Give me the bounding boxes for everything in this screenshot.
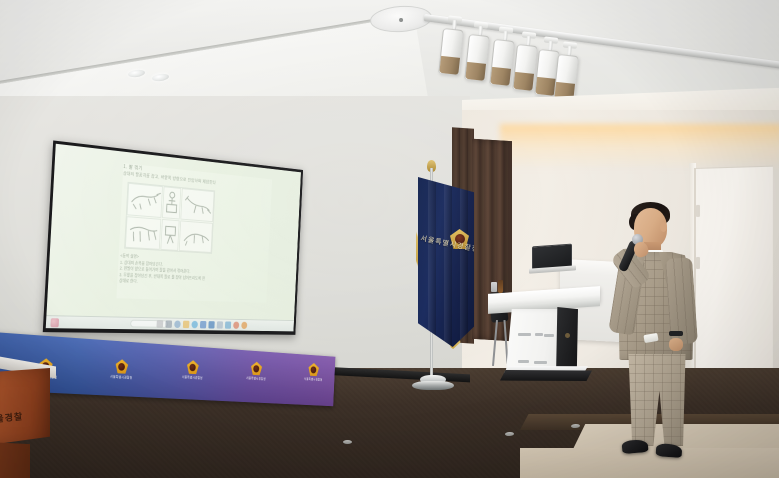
cove-light-glow [500, 124, 779, 170]
flag-stand-base [412, 381, 454, 390]
banner-emblem-label: 서울특별시경찰청 [110, 374, 132, 380]
banner-emblem-label: 서울특별시경찰청 [246, 375, 266, 381]
banner-emblem-label: 서울특별시경찰청 [182, 374, 203, 380]
drinking-glass [491, 282, 497, 292]
lectern-vent [535, 333, 543, 336]
presenter-trousers [626, 354, 688, 446]
screen-frame: 1. 팔 꺾기 상대의 팔꿈치를 잡고, 바깥쪽 방향으로 진압하여 제압한다 [43, 140, 303, 334]
taskbar-icon[interactable] [183, 321, 190, 328]
presentation-room-photo: 1. 팔 꺾기 상대의 팔꿈치를 잡고, 바깥쪽 방향으로 진압하여 제압한다 [0, 0, 779, 478]
lectern-vent [544, 334, 554, 337]
presenter-shoe [621, 439, 648, 454]
technique-step-1 [127, 183, 163, 218]
lectern-body: 서울경찰 [0, 368, 50, 446]
technique-step-2 [162, 186, 181, 219]
floor-marker-icon [343, 440, 352, 444]
taskbar-icon[interactable] [156, 320, 163, 328]
taskbar-icon[interactable] [241, 322, 247, 329]
technique-step-3 [181, 188, 215, 221]
police-ceremonial-flag: 서울특별시경찰청 [418, 177, 474, 347]
wooden-lectern: 서울경찰 [0, 360, 56, 478]
technique-step-6 [179, 220, 213, 253]
banner-emblem-label: 서울특별시경찰청 [304, 376, 323, 381]
police-emblem-icon [251, 361, 263, 375]
projected-slide: 1. 팔 꺾기 상대의 팔꿈치를 잡고, 바깥쪽 방향으로 진압하여 제압한다 [46, 144, 300, 320]
police-emblem-icon [187, 360, 199, 374]
taskbar-icon[interactable] [165, 320, 172, 328]
open-laptop[interactable] [529, 245, 575, 275]
slide-content-area: 1. 팔 꺾기 상대의 팔꿈치를 잡고, 바깥쪽 방향으로 진압하여 제압한다 [116, 163, 272, 303]
taskbar-icon[interactable] [225, 321, 231, 328]
slide-notes: <동작 설명> 1. 상대의 손목을 잡아당긴다. 2. 왼발이 앞으로 들어가… [119, 253, 270, 290]
projection-screen: 1. 팔 꺾기 상대의 팔꿈치를 잡고, 바깥쪽 방향으로 진압하여 제압한다 [48, 140, 378, 340]
police-emblem-icon [308, 363, 319, 377]
presenter-ear [660, 222, 667, 232]
chair-leg [492, 320, 498, 366]
taskbar-icon[interactable] [200, 321, 206, 328]
white-lectern [502, 290, 586, 386]
chrome-flag-stand [412, 368, 454, 390]
wristwatch-icon [669, 331, 683, 336]
presenter [606, 196, 710, 466]
taskbar-icon[interactable] [217, 321, 223, 328]
lectern-vent [534, 361, 547, 364]
lectern-vent [518, 360, 529, 363]
presenter-right-hand [669, 338, 683, 351]
start-button-icon[interactable] [50, 318, 59, 327]
technique-figure-grid [124, 182, 215, 254]
taskbar-icon[interactable] [191, 321, 198, 328]
technique-step-4 [125, 216, 161, 250]
technique-step-5 [160, 219, 180, 251]
taskbar-icon[interactable] [233, 322, 239, 329]
lectern-base [500, 370, 592, 381]
police-emblem-icon [115, 359, 128, 374]
taskbar-icon[interactable] [208, 321, 214, 328]
lectern-vent [518, 333, 531, 336]
lectern-text: 서울경찰 [0, 407, 47, 426]
lectern-base [0, 442, 30, 478]
taskbar-icon[interactable] [174, 321, 181, 329]
screen-surface: 1. 팔 꺾기 상대의 팔꿈치를 잡고, 바깥쪽 방향으로 진압하여 제압한다 [46, 144, 301, 332]
